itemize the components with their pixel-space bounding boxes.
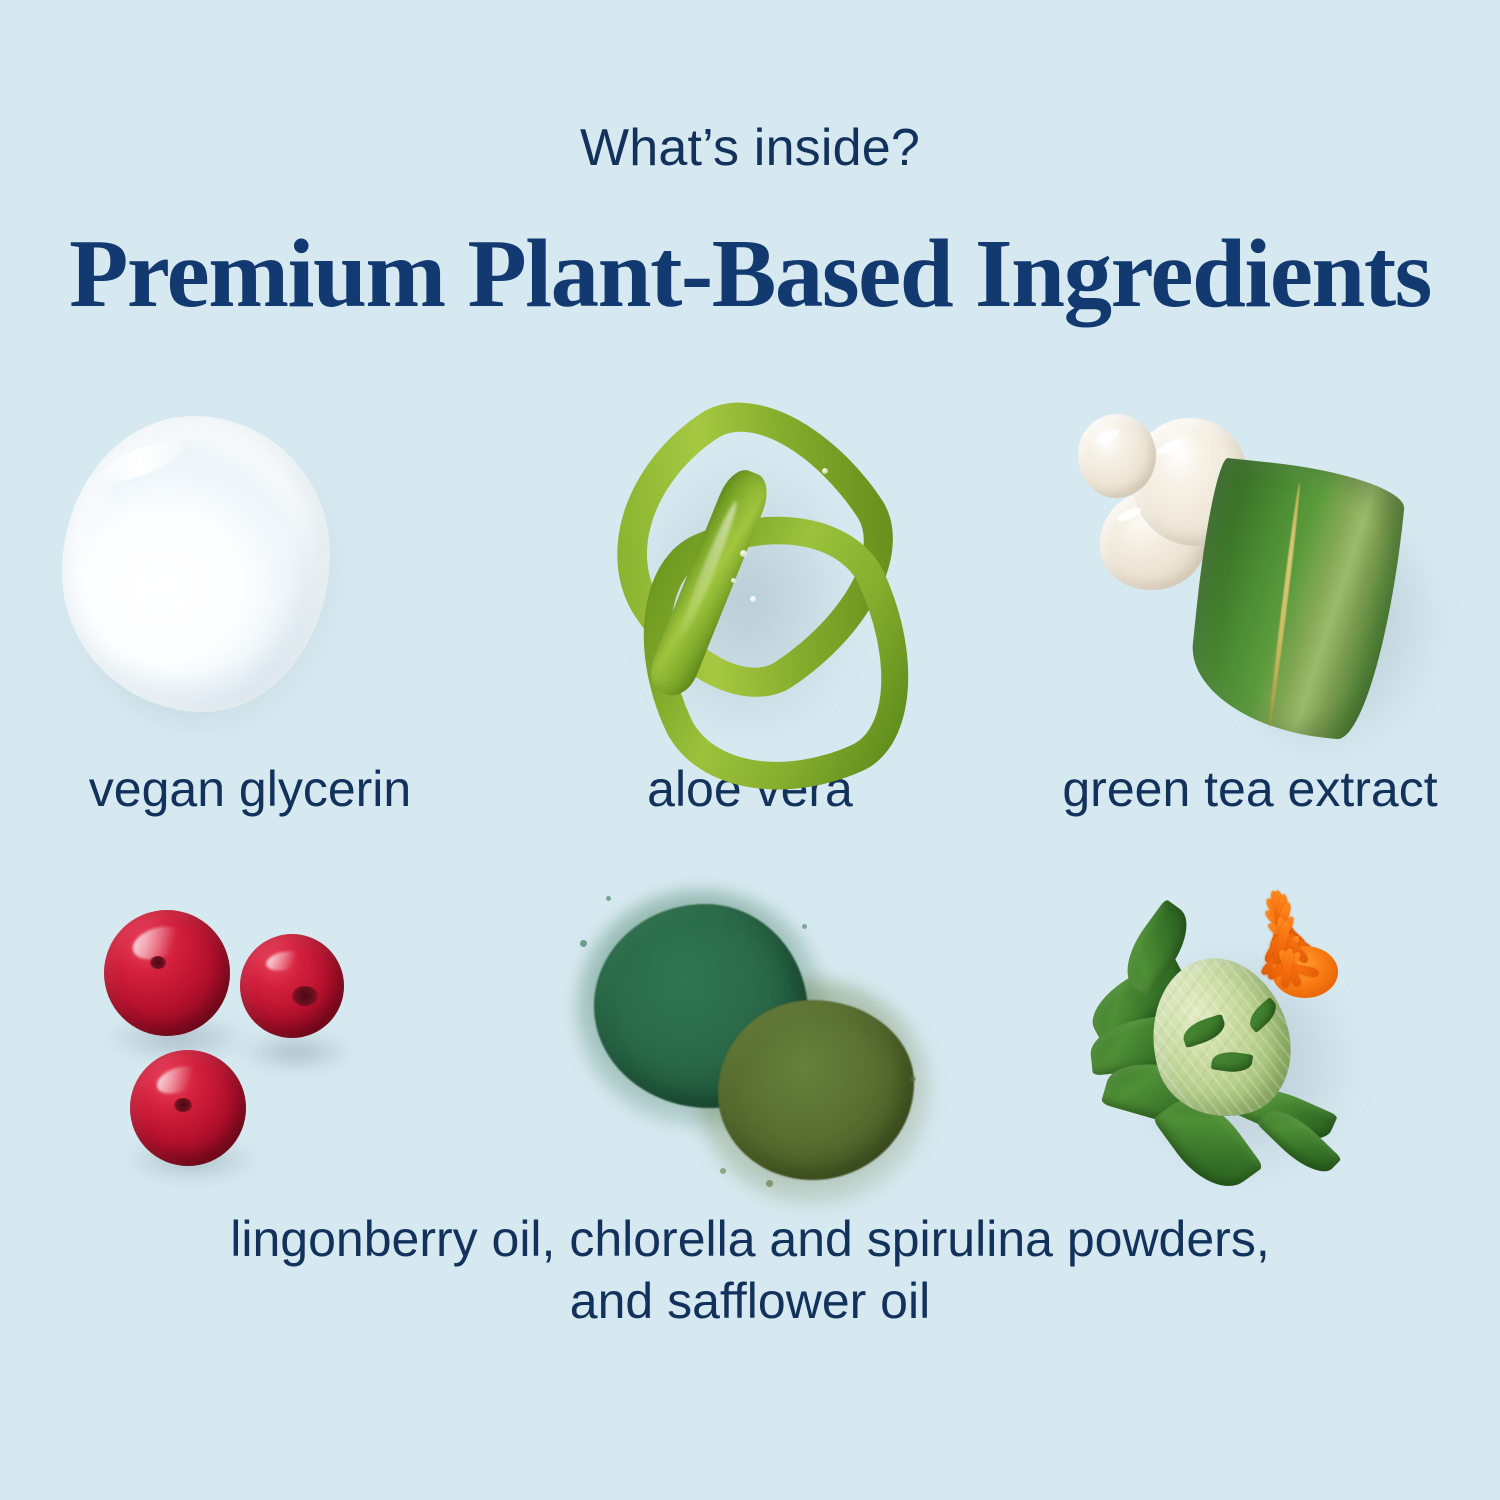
ingredient-card-aloe-vera: aloe vera <box>500 400 1000 818</box>
aloe-vera-image <box>530 400 970 760</box>
droplet-bubbles-lower <box>162 614 272 678</box>
ingredient-card-lingonberry-oil <box>0 880 500 1240</box>
powder-speck <box>802 924 807 929</box>
safflower-petals-icon <box>1242 900 1366 1012</box>
powder-speck <box>910 1076 916 1082</box>
powders-image <box>530 880 970 1240</box>
safflower-image <box>1030 880 1470 1240</box>
ingredient-card-vegan-glycerin: vegan glycerin <box>0 400 500 818</box>
aloe-water-droplet <box>740 550 747 557</box>
lingonberry-icon <box>240 934 344 1038</box>
berry-calyx <box>174 1098 192 1112</box>
berry-calyx <box>150 956 166 969</box>
ingredient-card-safflower-oil <box>1000 880 1500 1240</box>
aloe-water-droplet <box>822 468 828 474</box>
vegan-glycerin-image <box>30 400 470 760</box>
ingredient-row-1: vegan glycerin aloe vera <box>0 400 1500 818</box>
green-tea-extract-image <box>1030 400 1470 760</box>
aloe-water-droplet <box>750 596 756 602</box>
ingredient-card-green-tea-extract: green tea extract <box>1000 400 1500 818</box>
ingredient-row-2 <box>0 880 1500 1240</box>
ingredients-infographic: What’s inside? Premium Plant-Based Ingre… <box>0 0 1500 1500</box>
page-title: Premium Plant-Based Ingredients <box>0 218 1500 329</box>
powder-speck <box>720 1168 726 1174</box>
row2-caption-line-1: lingonberry oil, chlorella and spirulina… <box>0 1208 1500 1270</box>
lingonberry-image <box>30 880 470 1240</box>
caption-green-tea-extract: green tea extract <box>1062 760 1437 818</box>
eyebrow-text: What’s inside? <box>0 118 1500 178</box>
row2-caption-line-2: and safflower oil <box>0 1270 1500 1332</box>
oil-droplet-icon <box>1078 414 1156 498</box>
berry-calyx <box>292 986 318 1006</box>
caption-vegan-glycerin: vegan glycerin <box>89 760 411 818</box>
powder-speck <box>580 940 587 947</box>
powder-speck <box>606 896 611 901</box>
aloe-water-droplet <box>731 578 736 583</box>
powder-speck <box>766 1180 773 1187</box>
row2-caption: lingonberry oil, chlorella and spirulina… <box>0 1208 1500 1332</box>
ingredient-card-powders <box>500 880 1000 1240</box>
